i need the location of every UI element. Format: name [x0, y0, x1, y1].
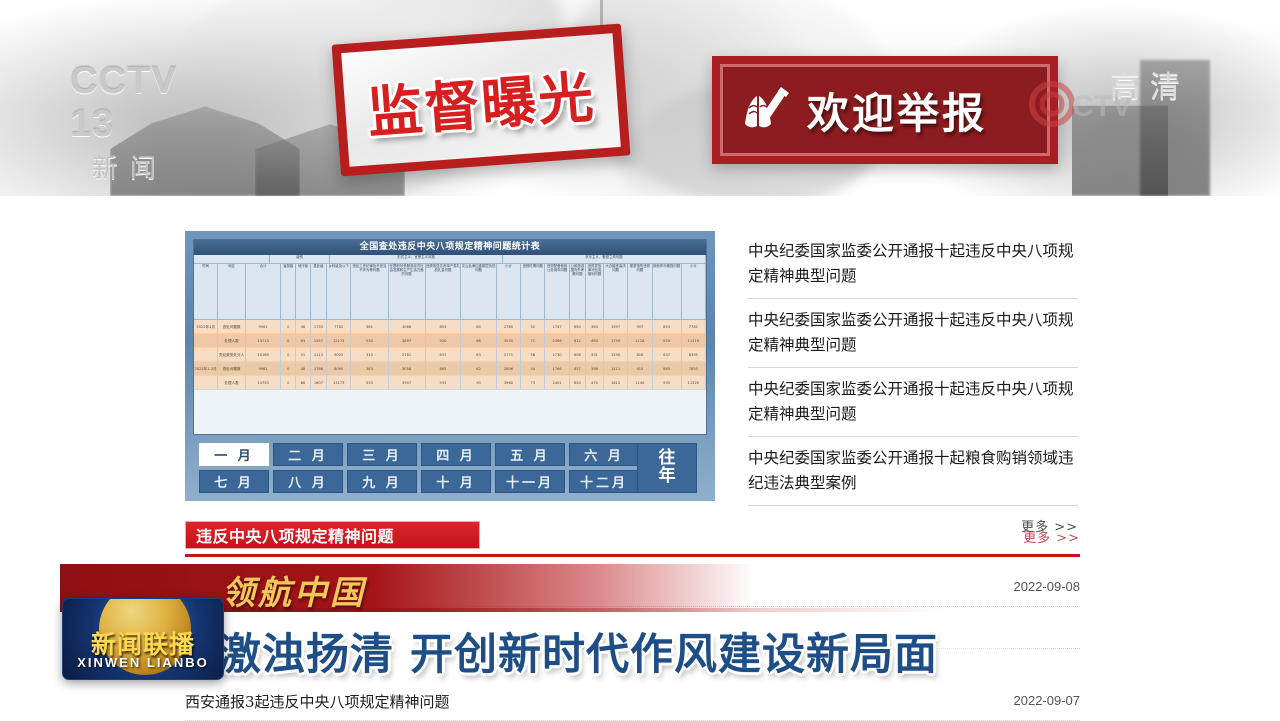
- month-selector: 一 月二 月三 月四 月五 月六 月七 月八 月九 月十 月十一月十二月 往 年: [193, 443, 707, 493]
- table-column-header: 大办婚丧喜庆问题: [604, 264, 628, 319]
- table-cell-value: 11320: [682, 376, 706, 390]
- table-cell-value: 933: [426, 376, 462, 390]
- pen-book-icon: [741, 86, 793, 134]
- supervision-exposure-plaque: 监督曝光: [332, 24, 631, 177]
- headline-news-list: 中央纪委国家监委公开通报十起违反中央八项规定精神典型问题 中央纪委国家监委公开通…: [748, 230, 1078, 535]
- list-item[interactable]: 中央纪委国家监委公开通报十起粮食购销领域违纪违法典型案例: [748, 437, 1078, 506]
- table-row: 处理人数137130631557121735303897920883935712…: [194, 334, 706, 348]
- table-cell-value: 51: [296, 348, 311, 362]
- table-cell-value: 8395: [682, 348, 706, 362]
- more-link-section[interactable]: 更多 >>: [1023, 527, 1080, 546]
- table-cell-label: 党纪政务处分人数: [218, 348, 246, 362]
- table-cell-value: 63: [296, 334, 311, 348]
- table-cell-value: 48: [296, 362, 311, 376]
- table-cell-value: 853: [653, 320, 682, 334]
- table-cell-value: 1128: [628, 334, 652, 348]
- table-cell-value: 865: [653, 362, 682, 376]
- news-title: 中央纪委国家监委公开通报十起违反中央八项规定精神典型问题: [748, 239, 1078, 289]
- statistics-table-title: 全国查处违反中央八项规定精神问题统计表: [194, 240, 706, 255]
- table-cell-value: 7782: [327, 320, 351, 334]
- table-cell-value: 7782: [682, 320, 706, 334]
- table-cell-value: 657: [570, 362, 586, 376]
- table-column-header: 违规发放津补贴或福利问题: [586, 264, 604, 319]
- hd-label: 高清: [1110, 62, 1190, 106]
- table-group-header: [194, 255, 270, 263]
- table-cell-label: 查处问题数: [218, 362, 246, 376]
- table-column-header: 公款旅游国内外考察问题: [570, 264, 586, 319]
- table-cell-period: [194, 334, 218, 348]
- statistics-table-body: 级别形式主义、官僚主义问题享乐主义、奢靡之风问题时间地区合计省部级地厅级县处级乡…: [194, 255, 706, 390]
- table-cell-value: 62: [461, 362, 497, 376]
- table-cell-label: 处理人数: [218, 334, 246, 348]
- table-cell-value: 3066: [389, 320, 426, 334]
- month-button-10[interactable]: 十 月: [421, 470, 491, 493]
- table-column-header: 在履职尽责服务经济社会发展和生产生活方面的问题: [389, 264, 426, 319]
- table-cell-period: [194, 376, 218, 390]
- table-cell-value: 3935: [497, 334, 521, 348]
- table-cell-value: 2771: [497, 348, 521, 362]
- statistics-table: 全国查处违反中央八项规定精神问题统计表 级别形式主义、官僚主义问题享乐主义、奢靡…: [193, 239, 707, 435]
- table-cell-value: 1290: [604, 348, 628, 362]
- month-button-2[interactable]: 二 月: [273, 443, 343, 466]
- table-cell-value: 90: [461, 376, 497, 390]
- table-row: 2022年1-2月查处问题数99810481766809036330588656…: [194, 362, 706, 376]
- table-cell-value: 331: [586, 348, 604, 362]
- lower-third-kicker: 领航中国: [222, 566, 366, 614]
- table-header-row: 时间地区合计省部级地厅级县处级乡科级及以下违反工作纪律及不担当不作为等问题在履职…: [194, 264, 706, 320]
- table-cell-value: 907: [628, 320, 652, 334]
- table-row: 2022年1月查处问题数9561046173377823613066853602…: [194, 320, 706, 334]
- table-cell-value: 11219: [682, 334, 706, 348]
- list-item[interactable]: 中央纪委国家监委公开通报十起违反中央八项规定精神典型问题: [748, 230, 1078, 299]
- month-button-6[interactable]: 六 月: [569, 443, 639, 466]
- cctv13-logo-text: CCTV 13: [70, 60, 220, 146]
- table-cell-value: 1113: [311, 348, 327, 362]
- table-cell-value: 1397: [604, 320, 628, 334]
- month-buttons-grid: 一 月二 月三 月四 月五 月六 月七 月八 月九 月十 月十一月十二月: [199, 443, 629, 493]
- plaque-title-text: 监督曝光: [364, 52, 597, 148]
- table-cell-value: 853: [426, 320, 462, 334]
- table-column-header: 违规吃喝问题: [521, 264, 545, 319]
- table-cell-value: 54: [521, 362, 545, 376]
- cctv13-channel-logo: CCTV 13 新闻: [70, 60, 220, 140]
- table-cell-value: 920: [426, 334, 462, 348]
- table-cell-value: 71: [521, 334, 545, 348]
- month-button-12[interactable]: 十二月: [569, 470, 639, 493]
- table-cell-value: 2401: [545, 376, 569, 390]
- section-header: 违反中央八项规定精神问题 更多 >>: [185, 521, 1080, 551]
- table-column-header: 合计: [246, 264, 282, 319]
- table-column-header: 乡科级及以下: [327, 264, 351, 319]
- month-button-11[interactable]: 十一月: [495, 470, 565, 493]
- welcome-title-text: 欢迎举报: [807, 80, 987, 141]
- month-button-5[interactable]: 五 月: [495, 443, 565, 466]
- article-title: 西安通报3起违反中央八项规定精神问题: [185, 691, 450, 712]
- table-cell-value: 820: [570, 376, 586, 390]
- table-cell-value: 812: [570, 334, 586, 348]
- table-cell-value: 637: [426, 348, 462, 362]
- table-cell-value: 361: [351, 320, 388, 334]
- table-cell-period: 2022年1月: [194, 320, 218, 334]
- month-button-3[interactable]: 三 月: [347, 443, 417, 466]
- table-cell-value: 920: [653, 334, 682, 348]
- table-cell-value: 7855: [682, 362, 706, 376]
- table-cell-value: 530: [351, 334, 388, 348]
- xinwen-lianbo-badge: 新闻联播 XINWEN LIANBO: [62, 598, 224, 680]
- table-cell-value: 2388: [545, 334, 569, 348]
- table-column-header: 违规收送名贵特产类礼品礼金问题: [426, 264, 462, 319]
- table-cell-value: 58: [521, 348, 545, 362]
- table-cell-value: 1747: [545, 320, 569, 334]
- table-cell-value: 0: [281, 376, 296, 390]
- news-title: 中央纪委国家监委公开通报十起违反中央八项规定精神典型问题: [748, 377, 1078, 427]
- table-cell-label: 查处问题数: [218, 320, 246, 334]
- table-cell-value: 46: [296, 320, 311, 334]
- table-cell-value: 0: [281, 320, 296, 334]
- table-cell-value: 865: [426, 362, 462, 376]
- welcome-report-plaque: 欢迎举报: [712, 56, 1058, 164]
- table-column-header: 违反工作纪律及不担当不作为等问题: [351, 264, 388, 319]
- month-button-9[interactable]: 九 月: [347, 470, 417, 493]
- table-column-header: 县处级: [311, 264, 327, 319]
- table-cell-value: 2806: [497, 362, 521, 376]
- past-years-button[interactable]: 往 年: [637, 443, 697, 493]
- table-column-header: 小计: [497, 264, 521, 319]
- cctv13-logo-subtitle: 新闻: [92, 148, 220, 185]
- news-title: 中央纪委国家监委公开通报十起违反中央八项规定精神典型问题: [748, 308, 1078, 358]
- table-cell-value: 2780: [497, 320, 521, 334]
- table-cell-value: 1766: [545, 362, 569, 376]
- table-row[interactable]: 西安通报3起违反中央八项规定精神问题 2022-09-07: [185, 682, 1080, 721]
- table-cell-value: 8090: [327, 362, 351, 376]
- table-cell-value: 1411: [604, 362, 628, 376]
- table-cell-value: 915: [628, 362, 652, 376]
- section-tab-label: 违反中央八项规定精神问题: [196, 523, 394, 547]
- table-cell-value: 1766: [311, 362, 327, 376]
- month-button-1[interactable]: 一 月: [199, 443, 269, 466]
- table-cell-value: 88: [461, 334, 497, 348]
- past-years-char-2: 年: [659, 468, 676, 486]
- table-cell-value: 1557: [311, 334, 327, 348]
- plaque-inner-panel: 监督曝光: [341, 33, 621, 167]
- table-cell-value: 66: [296, 376, 311, 390]
- table-cell-value: 12173: [327, 334, 351, 348]
- table-group-header: 享乐主义、奢靡之风问题: [503, 255, 706, 263]
- section-underline: [185, 554, 1080, 557]
- table-cell-value: 73: [521, 376, 545, 390]
- table-cell-period: [194, 348, 218, 362]
- table-cell-value: 9981: [246, 362, 282, 376]
- lower-third-headline: 激浊扬清 开创新时代作风建设新局面: [218, 620, 938, 682]
- table-cell-period: 2022年1-2月: [194, 362, 218, 376]
- table-cell-value: 363: [351, 362, 388, 376]
- table-row: 党纪政务处分人数10169051111390053102761637632771…: [194, 348, 706, 362]
- table-cell-value: 363: [586, 320, 604, 334]
- table-cell-label: 处理人数: [218, 376, 246, 390]
- table-cell-value: 3907: [389, 376, 426, 390]
- welcome-inner-panel: 欢迎举报: [720, 64, 1050, 156]
- table-column-header: 小计: [682, 264, 706, 319]
- table-cell-value: 52: [521, 320, 545, 334]
- table-group-header: 形式主义、官僚主义问题: [330, 255, 502, 263]
- table-cell-value: 13713: [246, 334, 282, 348]
- table-column-header: 违规配备使用公务用车问题: [545, 264, 569, 319]
- table-cell-value: 60: [461, 320, 497, 334]
- table-column-header: 其他享乐奢靡问题: [653, 264, 682, 319]
- news-title: 中央纪委国家监委公开通报十起粮食购销领域违纪违法典型案例: [748, 446, 1078, 496]
- table-cell-value: 637: [653, 348, 682, 362]
- month-button-8[interactable]: 八 月: [273, 470, 343, 493]
- article-date: 2022-09-07: [1014, 693, 1081, 708]
- table-cell-value: 1812: [604, 376, 628, 390]
- table-cell-value: 1733: [311, 320, 327, 334]
- table-column-header: 时间: [194, 264, 218, 319]
- table-column-header: 省部级: [281, 264, 296, 319]
- table-column-header: 地厅级: [296, 264, 311, 319]
- table-group-header-row: 级别形式主义、官僚主义问题享乐主义、奢靡之风问题: [194, 255, 706, 264]
- table-row: 处理人数147330661607131735333907933903960732…: [194, 376, 706, 390]
- program-name-en: XINWEN LIANBO: [63, 655, 223, 670]
- table-cell-value: 14733: [246, 376, 282, 390]
- table-cell-value: 10169: [246, 348, 282, 362]
- table-group-header: 级别: [270, 255, 330, 263]
- table-cell-value: 1799: [604, 334, 628, 348]
- table-cell-value: 0: [281, 348, 296, 362]
- table-cell-value: 13173: [327, 376, 351, 390]
- table-cell-value: 366: [586, 362, 604, 376]
- table-cell-value: 9005: [327, 348, 351, 362]
- table-column-header: 文山会海加重基层负担问题: [461, 264, 497, 319]
- table-cell-value: 63: [461, 348, 497, 362]
- table-cell-value: 0: [281, 334, 296, 348]
- table-cell-value: 3058: [389, 362, 426, 376]
- table-cell-value: 1140: [628, 376, 652, 390]
- table-column-header: 地区: [218, 264, 246, 319]
- table-cell-value: 2761: [389, 348, 426, 362]
- table-cell-value: 608: [570, 348, 586, 362]
- table-cell-value: 310: [351, 348, 388, 362]
- table-cell-value: 650: [570, 320, 586, 334]
- list-item[interactable]: 中央纪委国家监委公开通报十起违反中央八项规定精神典型问题: [748, 368, 1078, 437]
- table-cell-value: 818: [628, 348, 652, 362]
- statistics-panel: 全国查处违反中央八项规定精神问题统计表 级别形式主义、官僚主义问题享乐主义、奢靡…: [185, 231, 715, 501]
- table-cell-value: 933: [653, 376, 682, 390]
- table-cell-value: 1607: [311, 376, 327, 390]
- section-tab-violations[interactable]: 违反中央八项规定精神问题: [185, 521, 480, 549]
- article-date: 2022-09-08: [1014, 579, 1081, 594]
- month-button-4[interactable]: 四 月: [421, 443, 491, 466]
- table-cell-value: 3897: [389, 334, 426, 348]
- list-item[interactable]: 中央纪委国家监委公开通报十起违反中央八项规定精神典型问题: [748, 299, 1078, 368]
- table-cell-value: 463: [586, 334, 604, 348]
- month-button-7[interactable]: 七 月: [199, 470, 269, 493]
- table-cell-value: 1730: [545, 348, 569, 362]
- table-column-header: 楼堂馆所违规问题: [628, 264, 652, 319]
- broadcast-banner: CCTV 13 新闻 监督曝光 欢迎举报 CTV 高清: [0, 0, 1280, 196]
- table-cell-value: 3960: [497, 376, 521, 390]
- table-cell-value: 0: [281, 362, 296, 376]
- table-cell-value: 533: [351, 376, 388, 390]
- table-cell-value: 470: [586, 376, 604, 390]
- table-cell-value: 9561: [246, 320, 282, 334]
